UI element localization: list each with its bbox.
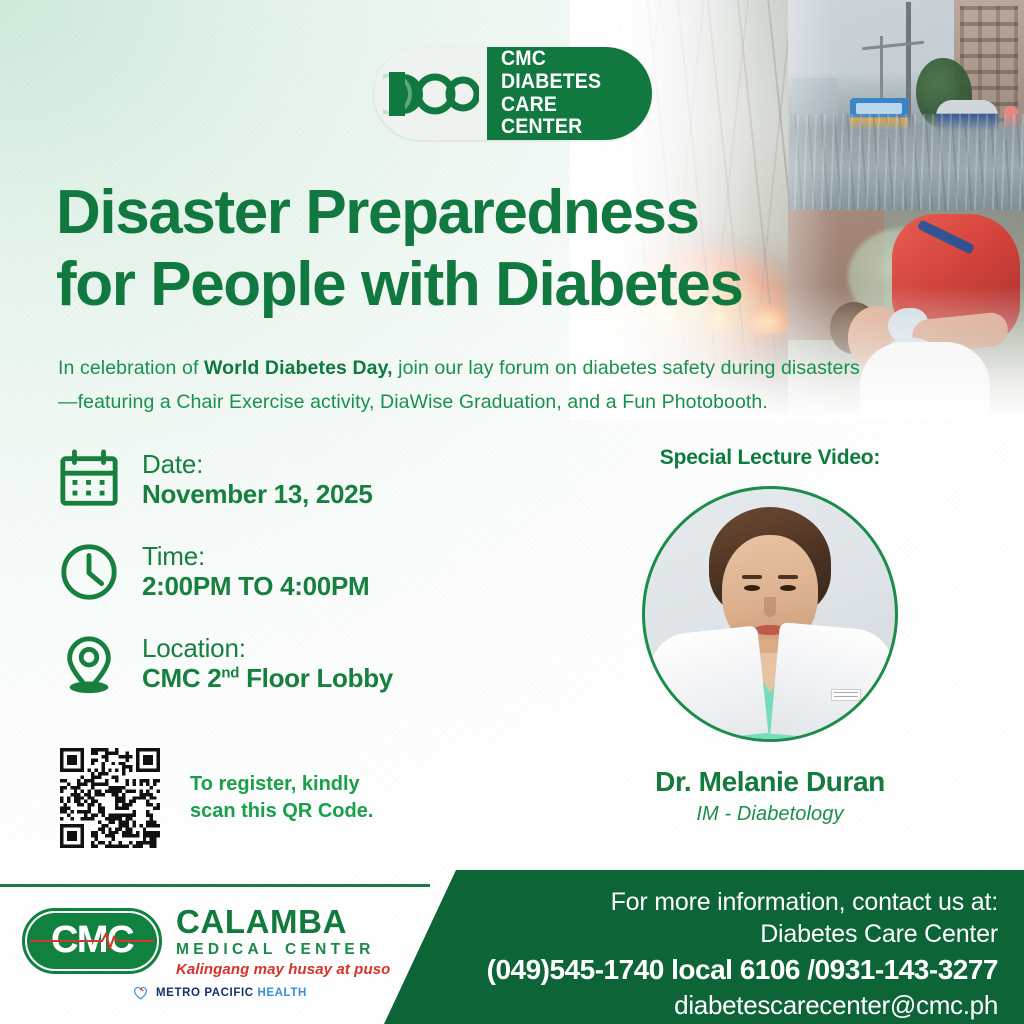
location-value-post: Floor Lobby xyxy=(239,663,393,693)
description-part1: In celebration of xyxy=(58,357,204,379)
poster-canvas: CMC DIABETES CARE CENTER Disaster Prepar… xyxy=(0,0,1024,1024)
qr-caption: To register, kindly scan this QR Code. xyxy=(190,771,373,825)
contact-email[interactable]: diabetescarecenter@cmc.ph xyxy=(424,989,998,1023)
detail-row-location: Location: CMC 2nd Floor Lobby xyxy=(58,628,488,700)
time-label: Time: xyxy=(142,541,205,571)
headline-line1: Disaster Preparedness xyxy=(56,178,699,247)
location-pin-icon xyxy=(58,633,120,695)
network-name-b: HEALTH xyxy=(257,987,306,999)
speaker-avatar xyxy=(642,486,898,742)
dcc-name-line1: CMC DIABETES xyxy=(501,48,641,93)
ecg-line-icon xyxy=(30,932,154,950)
speaker-section: Special Lecture Video: Dr. Melanie Duran… xyxy=(600,446,940,826)
headline-line2: for People with Diabetes xyxy=(56,254,856,316)
event-description: In celebration of World Diabetes Day, jo… xyxy=(58,352,870,419)
hospital-tagline: Kalingang may husay at puso xyxy=(176,962,390,977)
registration-block: To register, kindly scan this QR Code. xyxy=(60,748,373,848)
detail-row-date: Date: November 13, 2025 xyxy=(58,444,488,516)
location-value-pre: CMC 2 xyxy=(142,663,221,693)
footer-divider xyxy=(0,884,430,887)
dcc-monogram xyxy=(374,47,487,140)
heart-icon xyxy=(132,984,149,1001)
flood-photo xyxy=(788,0,1024,210)
date-value: November 13, 2025 xyxy=(142,479,373,509)
speaker-specialty: IM - Diabetology xyxy=(600,803,940,826)
clock-icon xyxy=(58,541,120,603)
cmc-monogram: CMC xyxy=(22,908,162,974)
date-label: Date: xyxy=(142,449,203,479)
qr-caption-line2: scan this QR Code. xyxy=(190,798,373,825)
contact-intro: For more information, contact us at: xyxy=(424,886,998,918)
dcc-name-line2: CARE CENTER xyxy=(501,94,641,139)
event-details: Date: November 13, 2025 Time: 2:00PM TO … xyxy=(58,444,488,720)
dcc-wordmark: CMC DIABETES CARE CENTER xyxy=(487,47,652,140)
cmc-logo: CMC CALAMBA MEDICAL CENTER Kalingang may… xyxy=(22,905,390,977)
location-value: CMC 2nd Floor Lobby xyxy=(142,663,393,693)
calendar-icon xyxy=(58,449,120,511)
hospital-subname: MEDICAL CENTER xyxy=(176,942,390,958)
metro-pacific-health-logo: METRO PACIFIC HEALTH xyxy=(132,984,307,1001)
detail-row-time: Time: 2:00PM TO 4:00PM xyxy=(58,536,488,608)
time-value: 2:00PM TO 4:00PM xyxy=(142,571,369,601)
location-value-sup: nd xyxy=(221,665,239,682)
qr-caption-line1: To register, kindly xyxy=(190,771,373,798)
speaker-section-title: Special Lecture Video: xyxy=(600,446,940,470)
dcc-logo: CMC DIABETES CARE CENTER xyxy=(374,47,652,140)
contact-phone[interactable]: (049)545-1740 local 6106 /0931-143-3277 xyxy=(424,952,998,988)
page-title: Disaster Preparedness for People with Di… xyxy=(56,182,856,316)
network-name-a: METRO PACIFIC xyxy=(156,987,257,999)
location-label: Location: xyxy=(142,633,246,663)
contact-department: Diabetes Care Center xyxy=(424,918,998,950)
speaker-name: Dr. Melanie Duran xyxy=(600,766,940,798)
contact-panel: For more information, contact us at: Dia… xyxy=(384,870,1024,1024)
qr-code[interactable] xyxy=(60,748,160,848)
description-bold: World Diabetes Day, xyxy=(204,357,393,379)
hospital-name: CALAMBA xyxy=(176,905,390,938)
